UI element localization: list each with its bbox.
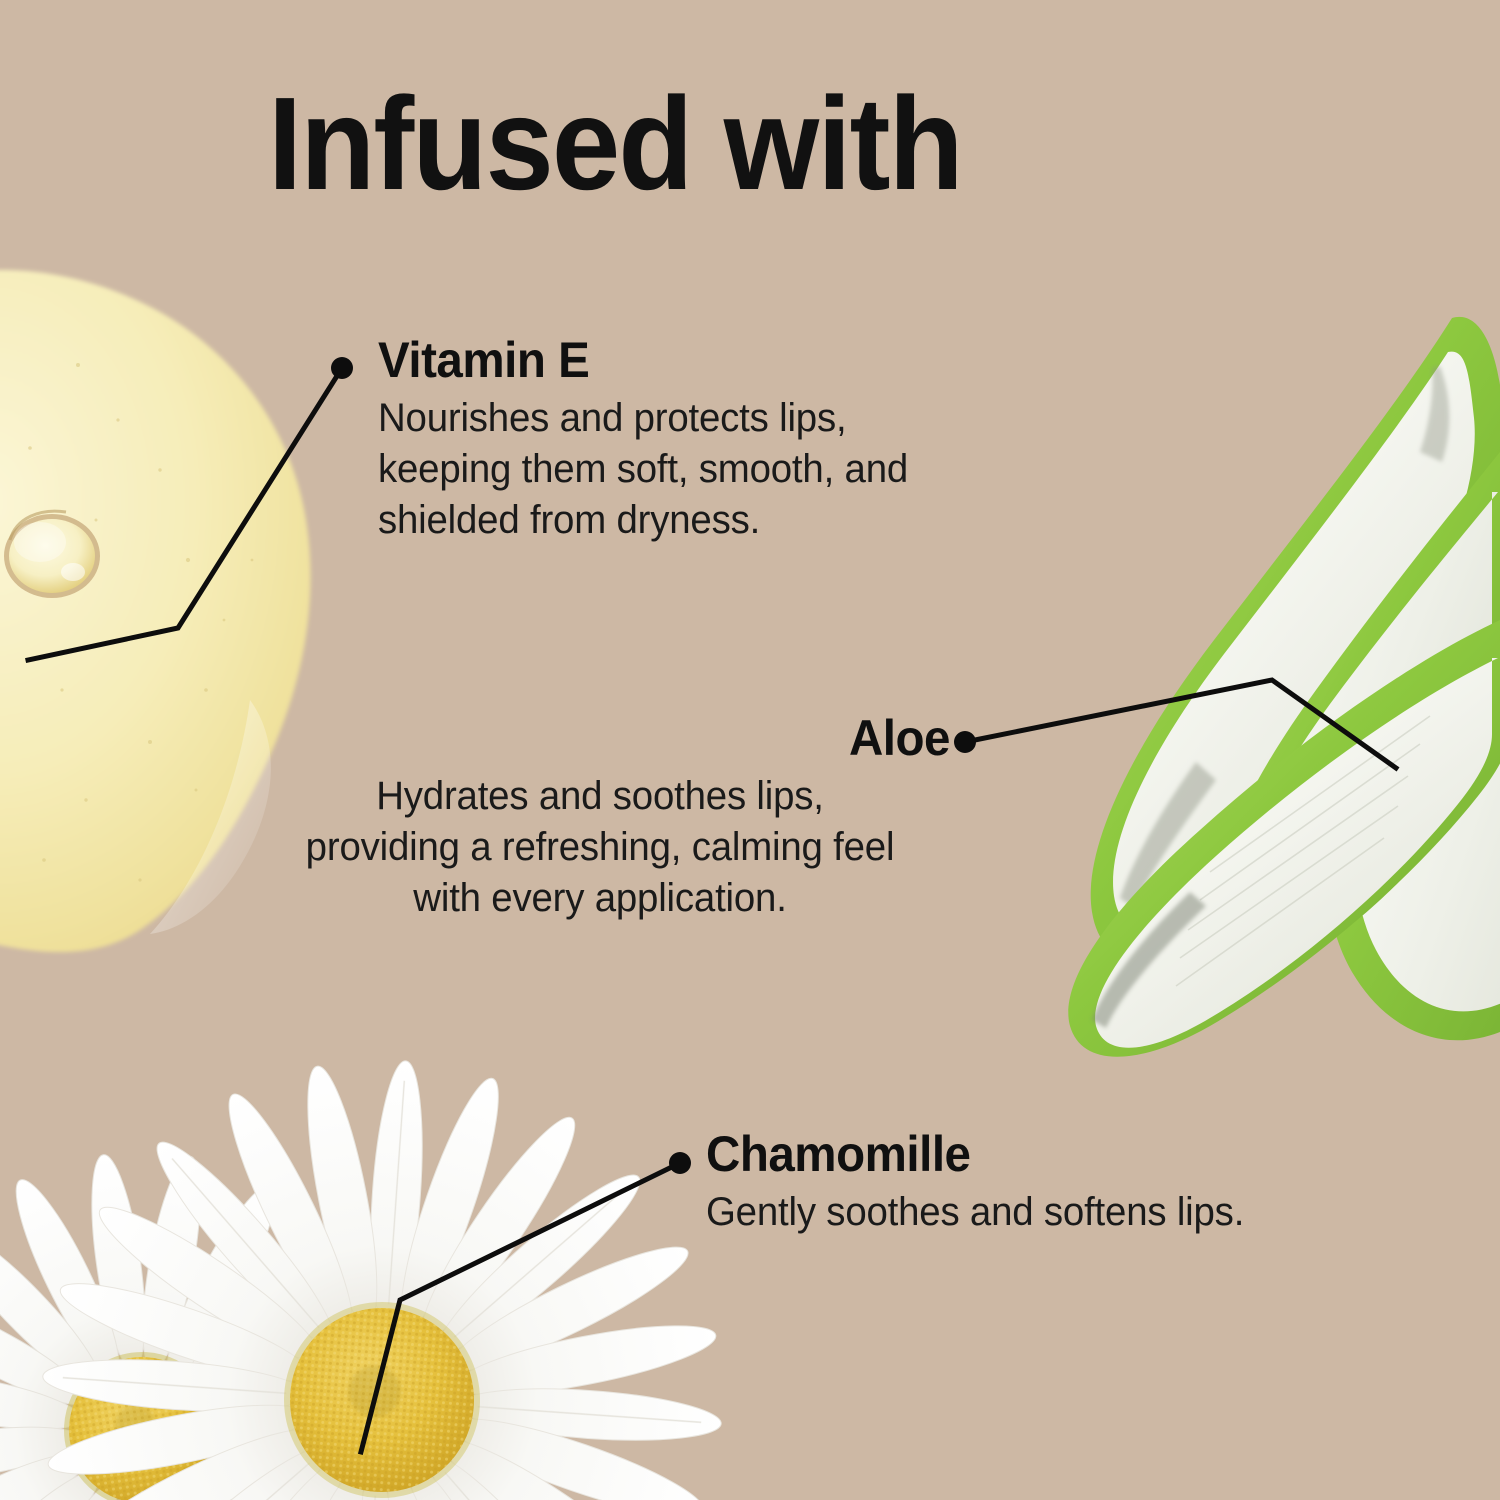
leader-vitamin-e <box>28 357 353 660</box>
description-line: shielded from dryness. <box>378 495 992 546</box>
ingredient-description-aloe: Hydrates and soothes lips, providing a r… <box>264 771 936 925</box>
leader-line-chamomille <box>361 1163 680 1452</box>
ingredient-block-chamomille: Chamomille Gently soothes and softens li… <box>706 1128 1406 1238</box>
ingredient-description-vitamin-e: Nourishes and protects lips, keeping the… <box>378 393 992 547</box>
infographic-canvas: Infused with Vitamin E Nourishes and pro… <box>0 0 1500 1500</box>
ingredient-block-vitamin-e: Vitamin E Nourishes and protects lips, k… <box>378 334 1018 546</box>
leader-chamomille <box>361 1152 691 1452</box>
ingredient-description-chamomille: Gently soothes and softens lips. <box>706 1187 1378 1238</box>
ingredient-title-vitamin-e: Vitamin E <box>378 334 986 387</box>
leader-line-vitamin-e <box>28 368 342 660</box>
ingredient-title-chamomille: Chamomille <box>706 1128 1371 1181</box>
leader-aloe <box>954 680 1396 768</box>
description-line: Nourishes and protects lips, <box>378 393 992 444</box>
leader-dot-chamomille <box>669 1152 691 1174</box>
description-line: Hydrates and soothes lips, <box>264 771 936 822</box>
description-line: keeping them soft, smooth, and <box>378 444 992 495</box>
leader-dot-aloe <box>954 731 976 753</box>
page-title: Infused with <box>268 78 962 210</box>
description-line: Gently soothes and softens lips. <box>706 1187 1378 1238</box>
leader-line-aloe <box>965 680 1396 768</box>
ingredient-block-aloe: Aloe Hydrates and soothes lips, providin… <box>250 712 950 924</box>
ingredient-title-aloe: Aloe <box>285 712 950 765</box>
description-line: with every application. <box>264 873 936 924</box>
leader-dot-vitamin-e <box>331 357 353 379</box>
description-line: providing a refreshing, calming feel <box>264 822 936 873</box>
